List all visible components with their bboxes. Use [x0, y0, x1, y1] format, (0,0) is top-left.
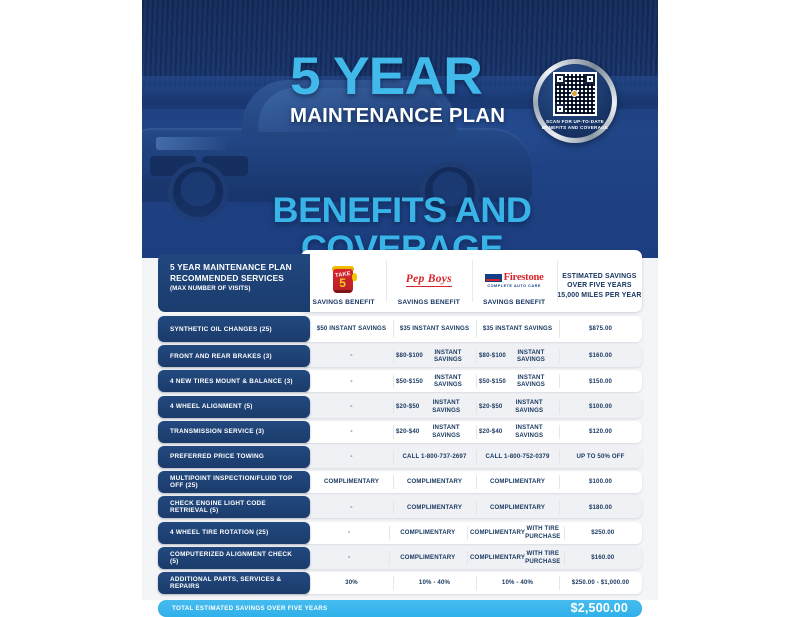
row-service-label: 4 NEW TIRES MOUNT & BALANCE (3): [158, 370, 310, 392]
cell-take5-line-1: -: [350, 453, 352, 460]
total-savings-bar: TOTAL ESTIMATED SAVINGS OVER FIVE YEARS …: [158, 600, 642, 617]
cell-estimated-savings-line-1: $160.00: [591, 554, 614, 561]
row-cells: 30%10% - 40%10% - 40%$250.00 - $1,000.00: [310, 572, 642, 594]
title-5-year: 5 YEAR: [290, 52, 540, 102]
cell-take5: -: [310, 522, 389, 544]
cell-pep-boys-line-1: COMPLIMENTARY: [400, 554, 455, 561]
cell-pep-boys: COMPLIMENTARY: [393, 471, 476, 493]
cell-estimated-savings: $875.00: [559, 316, 642, 342]
cell-pep-boys-line-1: $20-$50: [396, 403, 419, 410]
total-savings-label: TOTAL ESTIMATED SAVINGS OVER FIVE YEARS: [172, 605, 327, 612]
cell-estimated-savings-line-1: $100.00: [589, 403, 612, 410]
pep-boys-savings-caption: SAVINGS BENEFIT: [398, 299, 460, 306]
cell-estimated-savings-line-1: $250.00: [591, 529, 614, 536]
table-row: MULTIPOINT INSPECTION/FLUID TOP OFF (25)…: [158, 471, 642, 493]
cell-take5: -: [310, 496, 393, 518]
row-service-label: 4 WHEEL ALIGNMENT (5): [158, 396, 310, 418]
total-savings-value: $2,500.00: [571, 601, 628, 615]
cell-estimated-savings: UP TO 50% OFF: [559, 446, 642, 468]
cell-take5: -: [310, 370, 393, 392]
row-cells: -COMPLIMENTARYCOMPLIMENTARYWITH TIRE PUR…: [310, 547, 642, 569]
table-row: PREFERRED PRICE TOWING-CALL 1-800-737-26…: [158, 446, 642, 468]
cell-firestone: $80-$100INSTANT SAVINGS: [476, 345, 559, 367]
header-line-2: RECOMMENDED SERVICES: [170, 273, 300, 284]
qr-code-icon[interactable]: [553, 72, 597, 116]
cell-estimated-savings: $100.00: [559, 396, 642, 418]
cell-pep-boys-line-1: 10% - 40%: [419, 579, 450, 586]
table-row: COMPUTERIZED ALIGNMENT CHECK (5)-COMPLIM…: [158, 547, 642, 569]
cell-pep-boys: $20-$50INSTANT SAVINGS: [393, 396, 476, 418]
cell-firestone-line-1: $50-$150: [479, 378, 506, 385]
cell-firestone-line-1: $80-$100: [479, 352, 506, 359]
cell-firestone-line-2: WITH TIRE PURCHASE: [525, 525, 560, 540]
cell-take5: -: [310, 396, 393, 418]
table-row: ADDITIONAL PARTS, SERVICES & REPAIRS30%1…: [158, 572, 642, 594]
row-cells: -CALL 1-800-737-2697CALL 1-800-752-0379U…: [310, 446, 642, 468]
cell-pep-boys: COMPLIMENTARY: [393, 496, 476, 518]
row-cells: -COMPLIMENTARYCOMPLIMENTARY$180.00: [310, 496, 642, 518]
table-body: SYNTHETIC OIL CHANGES (25)$50 INSTANT SA…: [158, 316, 642, 594]
cell-pep-boys: CALL 1-800-737-2697: [393, 446, 476, 468]
cell-take5-line-1: -: [350, 504, 352, 511]
cell-take5: $50 INSTANT SAVINGS: [310, 316, 393, 342]
cell-estimated-savings-line-1: $150.00: [589, 378, 612, 385]
cell-firestone-line-1: COMPLIMENTARY: [490, 478, 545, 485]
table-row: SYNTHETIC OIL CHANGES (25)$50 INSTANT SA…: [158, 316, 642, 342]
row-cells: -$50-$150INSTANT SAVINGS$50-$150INSTANT …: [310, 370, 642, 392]
cell-take5: COMPLIMENTARY: [310, 471, 393, 493]
cell-firestone-line-2: INSTANT SAVINGS: [502, 399, 556, 414]
table-header-row: 5 YEAR MAINTENANCE PLAN RECOMMENDED SERV…: [158, 250, 642, 312]
table-row: CHECK ENGINE LIGHT CODE RETRIEVAL (5)-CO…: [158, 496, 642, 518]
cell-pep-boys: 10% - 40%: [393, 572, 476, 594]
column-header-take5: TAKE 5 SAVINGS BENEFIT: [301, 250, 386, 312]
row-cells: -$80-$100INSTANT SAVINGS$80-$100INSTANT …: [310, 345, 642, 367]
row-cells: -$20-$40INSTANT SAVINGS$20-$40INSTANT SA…: [310, 421, 642, 443]
column-header-estimated-savings: ESTIMATED SAVINGS OVER FIVE YEARS 15,000…: [557, 250, 642, 312]
cell-estimated-savings: $250.00: [564, 522, 643, 544]
hero-title-block: 5 YEAR MAINTENANCE PLAN: [290, 52, 530, 127]
cell-pep-boys-line-1: COMPLIMENTARY: [400, 529, 455, 536]
row-service-label: MULTIPOINT INSPECTION/FLUID TOP OFF (25): [158, 471, 310, 493]
cell-estimated-savings-line-1: $180.00: [589, 504, 612, 511]
cell-estimated-savings: $160.00: [564, 547, 643, 569]
cell-estimated-savings-line-1: $100.00: [589, 478, 612, 485]
cell-firestone-line-1: CALL 1-800-752-0379: [485, 453, 549, 460]
cell-take5: -: [310, 421, 393, 443]
cell-pep-boys: COMPLIMENTARY: [389, 522, 468, 544]
table-row: 4 NEW TIRES MOUNT & BALANCE (3)-$50-$150…: [158, 370, 642, 392]
cell-firestone: COMPLIMENTARYWITH TIRE PURCHASE: [467, 547, 564, 569]
pep-boys-logo-icon: Pep Boys: [406, 265, 452, 295]
cell-estimated-savings: $150.00: [559, 370, 642, 392]
cell-firestone-line-1: COMPLIMENTARY: [490, 504, 545, 511]
cell-take5-line-1: -: [350, 428, 352, 435]
cell-pep-boys-line-1: COMPLIMENTARY: [407, 478, 462, 485]
cell-take5-line-1: COMPLIMENTARY: [324, 478, 379, 485]
row-cells: -COMPLIMENTARYCOMPLIMENTARYWITH TIRE PUR…: [310, 522, 642, 544]
cell-estimated-savings-line-1: $160.00: [589, 352, 612, 359]
cell-take5: 30%: [310, 572, 393, 594]
cell-take5-line-1: -: [350, 352, 352, 359]
cell-firestone: $20-$40INSTANT SAVINGS: [476, 421, 559, 443]
cell-pep-boys-line-2: INSTANT SAVINGS: [419, 399, 473, 414]
cell-firestone-line-2: INSTANT SAVINGS: [506, 349, 556, 364]
cell-estimated-savings-line-1: UP TO 50% OFF: [576, 453, 624, 460]
take5-logo-icon: TAKE 5: [331, 265, 357, 295]
firestone-tagline: COMPLETE AUTO CARE: [477, 284, 551, 288]
table-row: FRONT AND REAR BRAKES (3)-$80-$100INSTAN…: [158, 345, 642, 367]
cell-pep-boys-line-1: $35 INSTANT SAVINGS: [400, 325, 469, 332]
cell-pep-boys: $20-$40INSTANT SAVINGS: [393, 421, 476, 443]
cell-take5-line-1: -: [350, 403, 352, 410]
cell-estimated-savings: $250.00 - $1,000.00: [559, 572, 642, 594]
cell-firestone-line-1: $20-$40: [479, 428, 502, 435]
cell-estimated-savings: $180.00: [559, 496, 642, 518]
firestone-logo-icon: Firestone COMPLETE AUTO CARE: [477, 265, 551, 295]
column-header-firestone: Firestone COMPLETE AUTO CARE SAVINGS BEN…: [472, 250, 557, 312]
table-header-service-label: 5 YEAR MAINTENANCE PLAN RECOMMENDED SERV…: [158, 254, 310, 312]
cell-firestone: $20-$50INSTANT SAVINGS: [476, 396, 559, 418]
cell-firestone-line-1: $20-$50: [479, 403, 502, 410]
cell-pep-boys-line-2: INSTANT SAVINGS: [423, 374, 473, 389]
cell-firestone: 10% - 40%: [476, 572, 559, 594]
cell-firestone: $35 INSTANT SAVINGS: [476, 316, 559, 342]
cell-take5-line-1: 30%: [345, 579, 358, 586]
cell-take5-line-1: -: [350, 378, 352, 385]
est-head-line-3: 15,000 MILES PER YEAR: [557, 291, 641, 300]
cell-take5: -: [310, 547, 389, 569]
row-service-label: TRANSMISSION SERVICE (3): [158, 421, 310, 443]
cell-take5: -: [310, 345, 393, 367]
cell-pep-boys-line-2: INSTANT SAVINGS: [423, 349, 473, 364]
row-cells: COMPLIMENTARYCOMPLIMENTARYCOMPLIMENTARY$…: [310, 471, 642, 493]
table-row: TRANSMISSION SERVICE (3)-$20-$40INSTANT …: [158, 421, 642, 443]
cell-pep-boys: $80-$100INSTANT SAVINGS: [393, 345, 476, 367]
title-benefits-and-coverage: BENEFITS AND COVERAGE: [186, 192, 619, 258]
cell-pep-boys-line-1: COMPLIMENTARY: [407, 504, 462, 511]
cell-pep-boys-line-1: $50-$150: [396, 378, 423, 385]
cell-take5-line-1: -: [348, 529, 350, 536]
cell-estimated-savings-line-1: $120.00: [589, 428, 612, 435]
header-line-3: (MAX NUMBER OF VISITS): [170, 284, 300, 293]
cell-pep-boys-line-1: CALL 1-800-737-2697: [402, 453, 466, 460]
title-maintenance-plan: MAINTENANCE PLAN: [290, 106, 535, 127]
cell-pep-boys: COMPLIMENTARY: [389, 547, 468, 569]
cell-firestone-line-1: COMPLIMENTARY: [470, 554, 525, 561]
cell-pep-boys-line-1: $20-$40: [396, 428, 419, 435]
cell-firestone-line-1: $35 INSTANT SAVINGS: [483, 325, 552, 332]
pep-boys-wordmark: Pep Boys: [406, 273, 452, 285]
qr-code-badge[interactable]: SCAN FOR UP-TO-DATE BENEFITS AND COVERAG…: [533, 59, 617, 143]
cell-firestone: $50-$150INSTANT SAVINGS: [476, 370, 559, 392]
row-service-label: 4 WHEEL TIRE ROTATION (25): [158, 522, 310, 544]
firestone-wordmark: Firestone: [504, 272, 544, 283]
row-cells: -$20-$50INSTANT SAVINGS$20-$50INSTANT SA…: [310, 396, 642, 418]
cell-firestone-line-2: INSTANT SAVINGS: [502, 424, 556, 439]
column-header-pep-boys: Pep Boys SAVINGS BENEFIT: [386, 250, 471, 312]
cell-take5-line-1: -: [348, 554, 350, 561]
row-service-label: ADDITIONAL PARTS, SERVICES & REPAIRS: [158, 572, 310, 594]
cell-firestone-line-2: WITH TIRE PURCHASE: [525, 550, 560, 565]
take5-savings-caption: SAVINGS BENEFIT: [313, 299, 375, 306]
table-row: 4 WHEEL TIRE ROTATION (25)-COMPLIMENTARY…: [158, 522, 642, 544]
cell-pep-boys: $50-$150INSTANT SAVINGS: [393, 370, 476, 392]
cell-firestone: CALL 1-800-752-0379: [476, 446, 559, 468]
est-head-line-1: ESTIMATED SAVINGS: [557, 272, 641, 281]
est-head-line-2: OVER FIVE YEARS: [557, 281, 641, 290]
cell-firestone-line-1: COMPLIMENTARY: [470, 529, 525, 536]
row-service-label: SYNTHETIC OIL CHANGES (25): [158, 316, 310, 342]
cell-firestone-line-2: INSTANT SAVINGS: [506, 374, 556, 389]
row-service-label: CHECK ENGINE LIGHT CODE RETRIEVAL (5): [158, 496, 310, 518]
cell-estimated-savings-line-1: $875.00: [589, 325, 612, 332]
hero-banner: 5 YEAR MAINTENANCE PLAN BENEFITS AND COV…: [142, 0, 658, 258]
cell-estimated-savings-line-1: $250.00 - $1,000.00: [572, 579, 629, 586]
cell-firestone: COMPLIMENTARY: [476, 496, 559, 518]
cell-estimated-savings: $160.00: [559, 345, 642, 367]
row-service-label: COMPUTERIZED ALIGNMENT CHECK (5): [158, 547, 310, 569]
row-service-label: FRONT AND REAR BRAKES (3): [158, 345, 310, 367]
qr-caption: SCAN FOR UP-TO-DATE BENEFITS AND COVERAG…: [538, 119, 612, 131]
table-row: 4 WHEEL ALIGNMENT (5)-$20-$50INSTANT SAV…: [158, 396, 642, 418]
row-cells: $50 INSTANT SAVINGS$35 INSTANT SAVINGS$3…: [310, 316, 642, 342]
firestone-savings-caption: SAVINGS BENEFIT: [483, 299, 545, 306]
cell-pep-boys-line-2: INSTANT SAVINGS: [419, 424, 473, 439]
cell-firestone: COMPLIMENTARYWITH TIRE PURCHASE: [467, 522, 564, 544]
header-line-1: 5 YEAR MAINTENANCE PLAN: [170, 262, 300, 273]
maintenance-plan-flyer: 5 YEAR MAINTENANCE PLAN BENEFITS AND COV…: [142, 0, 658, 600]
cell-pep-boys: $35 INSTANT SAVINGS: [393, 316, 476, 342]
benefits-table: 5 YEAR MAINTENANCE PLAN RECOMMENDED SERV…: [142, 250, 658, 617]
cell-estimated-savings: $120.00: [559, 421, 642, 443]
cell-estimated-savings: $100.00: [559, 471, 642, 493]
cell-firestone-line-1: 10% - 40%: [502, 579, 533, 586]
cell-take5-line-1: $50 INSTANT SAVINGS: [317, 325, 386, 332]
cell-take5: -: [310, 446, 393, 468]
cell-firestone: COMPLIMENTARY: [476, 471, 559, 493]
row-service-label: PREFERRED PRICE TOWING: [158, 446, 310, 468]
cell-pep-boys-line-1: $80-$100: [396, 352, 423, 359]
